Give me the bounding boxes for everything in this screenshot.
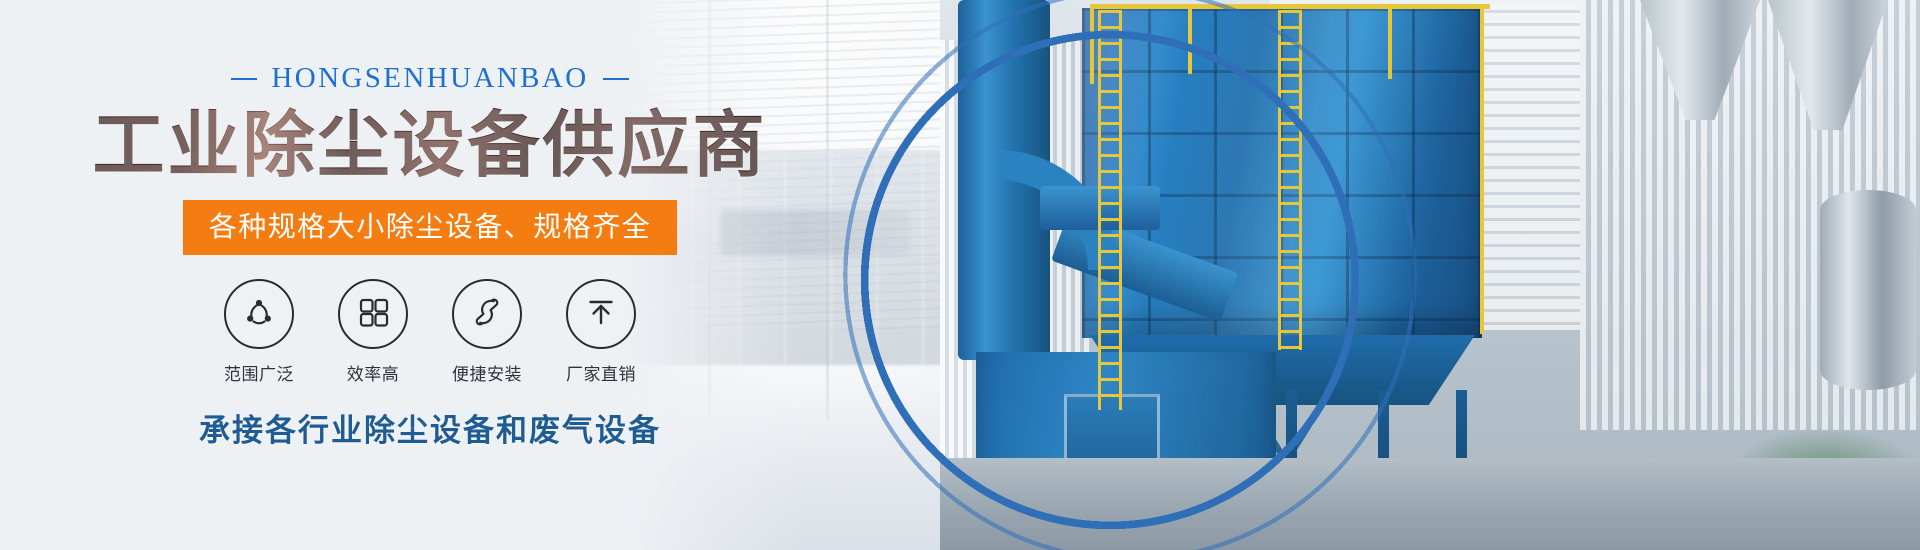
photo-handrail-post	[1480, 4, 1484, 334]
wrench-icon	[467, 292, 507, 337]
feature-icon-circle	[452, 279, 522, 349]
photo-handrail-post	[1388, 4, 1392, 79]
page-title: 工业除尘设备供应商	[92, 107, 767, 186]
photo-right-duct	[1820, 190, 1916, 390]
dash-right-icon	[603, 78, 629, 80]
feature-label: 厂家直销	[566, 360, 636, 385]
photo-handrail-post	[1090, 4, 1094, 84]
feature-icon-circle	[566, 279, 636, 349]
feature-list: 范围广泛 效率高	[220, 279, 640, 385]
brand-eyebrow-text: HONGSENHUANBAO	[271, 62, 588, 95]
feature-icon-circle	[338, 279, 408, 349]
feature-item-direct-sales[interactable]: 厂家直销	[562, 279, 640, 385]
grid-four-squares-icon	[354, 293, 392, 336]
dash-left-icon	[231, 78, 257, 80]
photo-yellow-ladder	[1098, 10, 1122, 410]
photo-ground	[940, 458, 1920, 550]
photo-yellow-handrail	[1090, 4, 1490, 9]
feature-label: 便捷安装	[452, 360, 522, 385]
industrial-dust-collector-photo	[940, 0, 1920, 550]
photo-yellow-ladder	[1278, 10, 1302, 350]
photo-handrail-post	[1188, 4, 1192, 74]
feature-item-efficiency[interactable]: 效率高	[334, 279, 412, 385]
subtitle-orange-banner: 各种规格大小除尘设备、规格齐全	[183, 200, 678, 255]
share-network-icon	[239, 292, 279, 337]
feature-item-scope[interactable]: 范围广泛	[220, 279, 298, 385]
hero-tagline: 承接各行业除尘设备和废气设备	[199, 405, 661, 450]
feature-label: 范围广泛	[224, 360, 294, 385]
brand-eyebrow: HONGSENHUANBAO	[231, 62, 628, 95]
hero-content: HONGSENHUANBAO 工业除尘设备供应商 各种规格大小除尘设备、规格齐全	[0, 0, 860, 550]
feature-label: 效率高	[347, 360, 400, 385]
hero-banner: HONGSENHUANBAO 工业除尘设备供应商 各种规格大小除尘设备、规格齐全	[0, 0, 1920, 550]
arrow-up-bar-icon	[582, 293, 620, 336]
feature-icon-circle	[224, 279, 294, 349]
feature-item-installation[interactable]: 便捷安装	[448, 279, 526, 385]
